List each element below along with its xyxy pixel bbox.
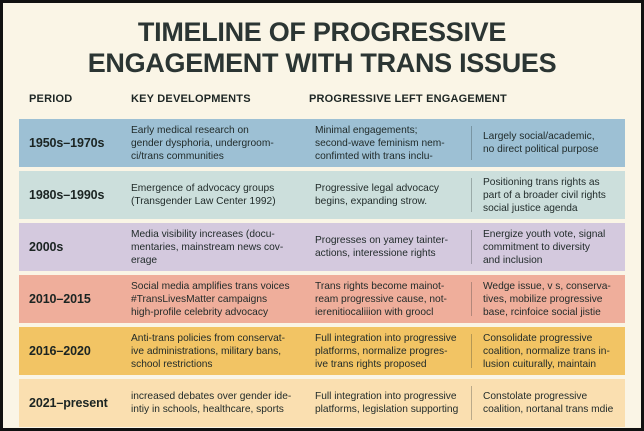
text-line: no direct political purpose <box>483 143 599 156</box>
column-header-progressive-left-engagement: PROGRESSIVE LEFT ENGAGEMENT <box>309 93 507 105</box>
progressive-engagement-text: Progresses on yamey tainter-actions, int… <box>315 234 448 260</box>
text-line: Emergence of advocacy groups <box>131 182 276 195</box>
text-line: actions, interessione rights <box>315 247 448 260</box>
text-line: base, rcinfoice social jistie <box>483 306 611 319</box>
timeline-row: 2016–2020Anti-trans policies from conser… <box>19 327 625 375</box>
key-developments-text: Social media amplifies trans voices#Tran… <box>131 280 290 319</box>
row-progressive-engagement: Progressive legal advocacybegins, expand… <box>311 171 471 219</box>
text-line: Progressive legal advocacy <box>315 182 439 195</box>
text-line: second-wave feminism nem- <box>315 137 445 150</box>
progressive-engagement-text: Full integration into progressiveplatfor… <box>315 390 458 416</box>
row-outcome: Largely social/academic,no direct politi… <box>471 119 625 167</box>
row-key-developments: Early medical research ongender dysphori… <box>131 119 311 167</box>
text-line: Full integration into progressive <box>315 390 458 403</box>
outcome-text: Largely social/academic,no direct politi… <box>483 130 599 156</box>
row-outcome: Energize youth vote, signalcommitment to… <box>471 223 625 271</box>
outcome-text: Wedge issue, v s, conserva-tives, mobili… <box>483 280 611 319</box>
key-developments-text: Early medical research ongender dysphori… <box>131 124 274 163</box>
text-line: commitment to diversity <box>483 241 605 254</box>
text-line: Minimal engagements; <box>315 124 445 137</box>
text-line: tives, mobilize progressive <box>483 293 611 306</box>
infographic-root: TIMELINE OF PROGRESSIVE ENGAGEMENT WITH … <box>0 0 644 431</box>
text-line: (Transgender Law Center 1992) <box>131 195 276 208</box>
title-line-1: TIMELINE OF PROGRESSIVE <box>3 17 641 48</box>
key-developments-text: Emergence of advocacy groups(Transgender… <box>131 182 276 208</box>
outcome-text: Energize youth vote, signalcommitment to… <box>483 228 605 267</box>
column-header-period: PERIOD <box>29 93 72 105</box>
text-line: #TransLivesMatter campaigns <box>131 293 290 306</box>
progressive-engagement-text: Progressive legal advocacybegins, expand… <box>315 182 439 208</box>
row-key-developments: Social media amplifies trans voices#Tran… <box>131 275 311 323</box>
row-period: 2010–2015 <box>19 275 131 323</box>
text-line: and inclusion <box>483 254 605 267</box>
text-line: ierenitiocaliiion with groocl <box>315 306 447 319</box>
row-period: 2016–2020 <box>19 327 131 375</box>
text-line: Positioning trans rights as <box>483 176 606 189</box>
text-line: Progresses on yamey tainter- <box>315 234 448 247</box>
text-line: ive administrations, military bans, <box>131 345 285 358</box>
text-line: Largely social/academic, <box>483 130 599 143</box>
text-line: ci/trans communities <box>131 150 274 163</box>
row-period: 2021–present <box>19 379 131 427</box>
timeline-rows: 1950s–1970sEarly medical research ongend… <box>19 119 625 427</box>
timeline-row: 2010–2015Social media amplifies trans vo… <box>19 275 625 323</box>
text-line: begins, expanding strow. <box>315 195 439 208</box>
row-progressive-engagement: Full integration into progressiveplatfor… <box>311 327 471 375</box>
text-line: coalition, nortanal trans mdie <box>483 403 613 416</box>
outcome-text: Constolate progressivecoalition, nortana… <box>483 390 613 416</box>
text-line: platforms, legislation supporting <box>315 403 458 416</box>
progressive-engagement-text: Full integration into progressiveplatfor… <box>315 332 457 371</box>
text-line: gender dysphoria, undergroom- <box>131 137 274 150</box>
row-progressive-engagement: Trans rights become mainot-ream progress… <box>311 275 471 323</box>
text-line: lusion cuiturally, maintain <box>483 358 610 371</box>
row-progressive-engagement: Progresses on yamey tainter-actions, int… <box>311 223 471 271</box>
text-line: intiy in schools, healthcare, sports <box>131 403 291 416</box>
key-developments-text: Anti-trans policies from conservat-ive a… <box>131 332 285 371</box>
row-progressive-engagement: Full integration into progressiveplatfor… <box>311 379 471 427</box>
row-key-developments: Emergence of advocacy groups(Transgender… <box>131 171 311 219</box>
outcome-text: Consolidate progressivecoalition, normal… <box>483 332 610 371</box>
column-header-key-developments: KEY DEVELOPMENTS <box>131 93 251 105</box>
text-line: ream progressive cause, not- <box>315 293 447 306</box>
column-headers: PERIOD KEY DEVELOPMENTS PROGRESSIVE LEFT… <box>3 93 641 119</box>
row-progressive-engagement: Minimal engagements;second-wave feminism… <box>311 119 471 167</box>
row-period: 1980s–1990s <box>19 171 131 219</box>
text-line: Full integration into progressive <box>315 332 457 345</box>
row-key-developments: Media visibility increases (docu-mentari… <box>131 223 311 271</box>
title-line-2: ENGAGEMENT WITH TRANS ISSUES <box>3 48 641 79</box>
text-line: part of a broader civil rights <box>483 189 606 202</box>
text-line: Early medical research on <box>131 124 274 137</box>
timeline-row: 2021–presentincreased debates over gende… <box>19 379 625 427</box>
timeline-row: 2000sMedia visibility increases (docu-me… <box>19 223 625 271</box>
text-line: Social media amplifies trans voices <box>131 280 290 293</box>
text-line: high-profile celebrity advocacy <box>131 306 290 319</box>
text-line: platforms, normalize progres- <box>315 345 457 358</box>
row-key-developments: Anti-trans policies from conservat-ive a… <box>131 327 311 375</box>
row-key-developments: increased debates over gender ide-intiy … <box>131 379 311 427</box>
text-line: mentaries, mainstream news cov- <box>131 241 283 254</box>
key-developments-text: Media visibility increases (docu-mentari… <box>131 228 283 267</box>
progressive-engagement-text: Trans rights become mainot-ream progress… <box>315 280 447 319</box>
progressive-engagement-text: Minimal engagements;second-wave feminism… <box>315 124 445 163</box>
text-line: school restrictions <box>131 358 285 371</box>
row-period: 2000s <box>19 223 131 271</box>
key-developments-text: increased debates over gender ide-intiy … <box>131 390 291 416</box>
text-line: Trans rights become mainot- <box>315 280 447 293</box>
text-line: Energize youth vote, signal <box>483 228 605 241</box>
text-line: Anti-trans policies from conservat- <box>131 332 285 345</box>
text-line: Wedge issue, v s, conserva- <box>483 280 611 293</box>
timeline-row: 1950s–1970sEarly medical research ongend… <box>19 119 625 167</box>
text-line: Consolidate progressive <box>483 332 610 345</box>
text-line: Media visibility increases (docu- <box>131 228 283 241</box>
timeline-row: 1980s–1990sEmergence of advocacy groups(… <box>19 171 625 219</box>
row-outcome: Constolate progressivecoalition, nortana… <box>471 379 625 427</box>
outcome-text: Positioning trans rights aspart of a bro… <box>483 176 606 215</box>
text-line: confimted with trans inclu- <box>315 150 445 163</box>
row-period: 1950s–1970s <box>19 119 131 167</box>
row-outcome: Positioning trans rights aspart of a bro… <box>471 171 625 219</box>
text-line: social justice agenda <box>483 202 606 215</box>
row-outcome: Wedge issue, v s, conserva-tives, mobili… <box>471 275 625 323</box>
text-line: ive trans rights proposed <box>315 358 457 371</box>
row-outcome: Consolidate progressivecoalition, normal… <box>471 327 625 375</box>
text-line: erage <box>131 254 283 267</box>
text-line: Constolate progressive <box>483 390 613 403</box>
page-title: TIMELINE OF PROGRESSIVE ENGAGEMENT WITH … <box>3 3 641 79</box>
text-line: increased debates over gender ide- <box>131 390 291 403</box>
text-line: coalition, normalize trans in- <box>483 345 610 358</box>
